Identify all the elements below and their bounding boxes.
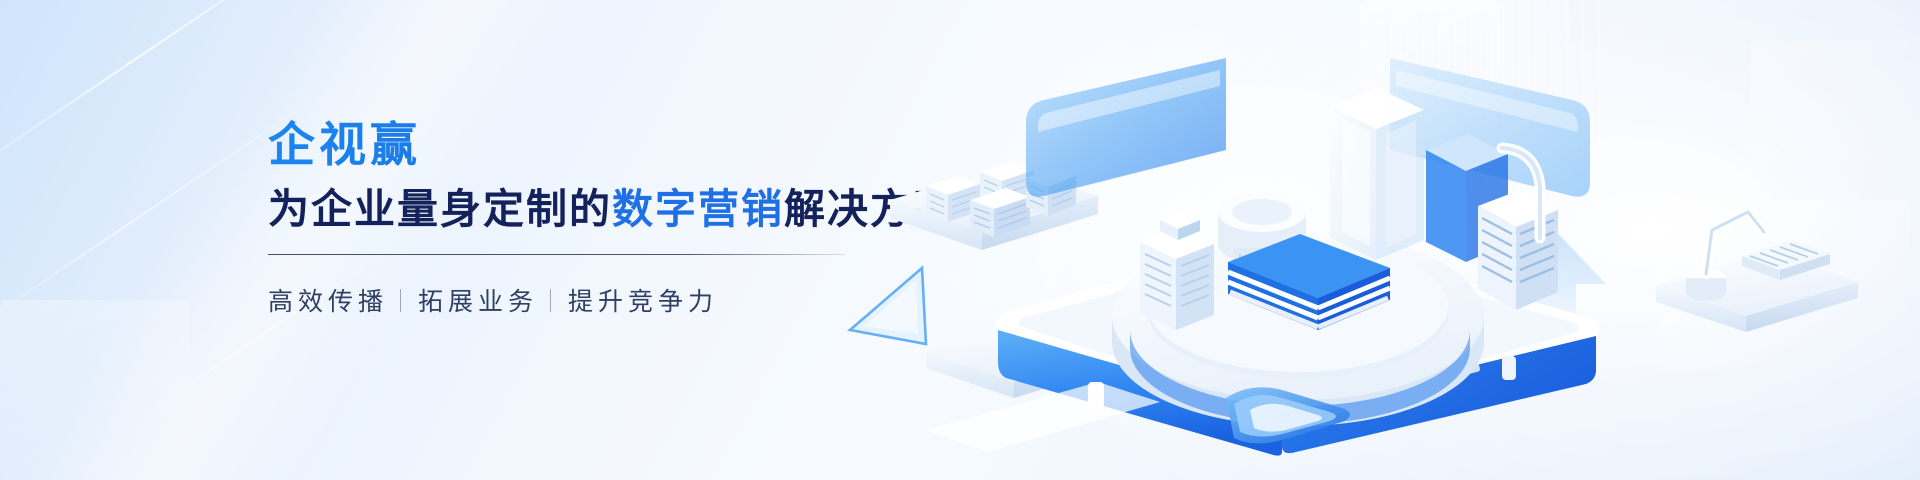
isometric-scene: [830, 0, 1920, 480]
bg-panel: [0, 300, 190, 480]
triangle-glass-prism: [850, 268, 926, 344]
headline-divider: [268, 254, 845, 255]
robot-arm-module: [1656, 212, 1858, 332]
headline-accent: 数字营销: [612, 186, 784, 232]
tagline-separator: [400, 289, 401, 312]
tagline-item-2: 拓展业务: [418, 282, 538, 318]
hero-illustration: [830, 0, 1920, 480]
tagline-item-3: 提升竞争力: [568, 282, 718, 318]
headline-lead: 为企业量身定制的: [268, 186, 612, 232]
hero-banner: 企视赢 为企业量身定制的数字营销解决方案 高效传播 拓展业务 提升竞争力: [0, 0, 1920, 480]
tagline-item-1: 高效传播: [268, 282, 388, 318]
glass-tower: [1330, 88, 1424, 260]
tagline-separator: [550, 289, 551, 312]
